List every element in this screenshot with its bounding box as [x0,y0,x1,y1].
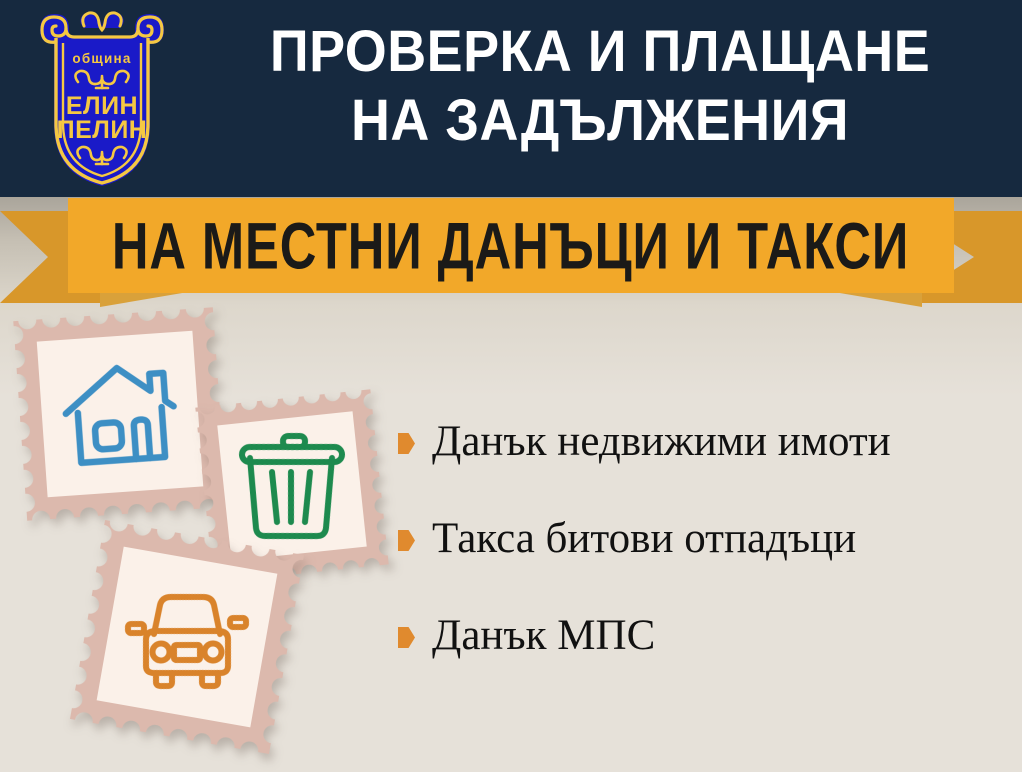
list-item[interactable]: Данък недвижими имоти [398,420,1018,463]
list-item[interactable]: Такса битови отпадъци [398,517,1018,560]
bullet-arrow-icon [398,530,415,551]
list-item-label: Данък МПС [432,614,655,657]
stamp-property [13,307,226,520]
list-item-label: Данък недвижими имоти [432,420,891,463]
poster-root: община ЕЛИН ПЕЛИН [0,0,1022,772]
bullet-arrow-icon [398,433,415,454]
tax-type-list: Данък недвижими имоти Такса битови отпад… [398,420,1018,711]
list-item[interactable]: Данък МПС [398,614,1018,657]
stamp-collage [0,0,420,772]
bullet-arrow-icon [398,627,415,648]
stamp-vehicle [70,520,304,754]
list-item-label: Такса битови отпадъци [432,517,856,560]
